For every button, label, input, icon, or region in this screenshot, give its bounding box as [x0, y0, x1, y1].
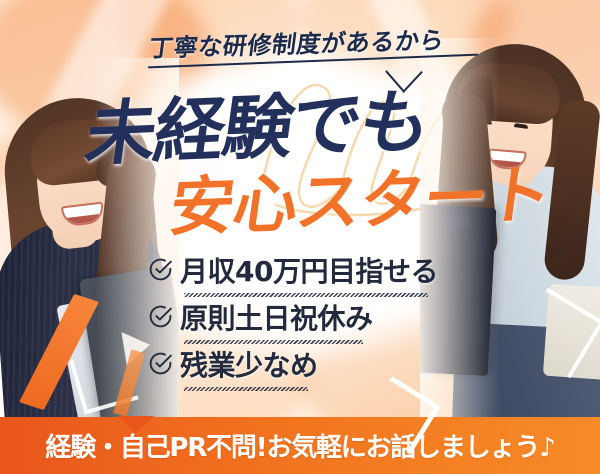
job-ad-banner: 丁寧な研修制度があるから 未経験でも 安心スタート 月収40万円目指せる — [0, 0, 600, 474]
list-item: 月収40万円目指せる — [148, 246, 478, 293]
list-item-label: 残業少なめ — [180, 344, 318, 384]
list-item: 原則土日祝休み — [148, 293, 478, 340]
circle-check-icon — [148, 304, 173, 329]
benefit-list: 月収40万円目指せる 原則土日祝休み 残業少なめ — [148, 246, 478, 387]
tote-bag — [543, 284, 600, 381]
cta-banner[interactable]: 経験・自己PR不問!お気軽にお話しましょう♪ — [0, 417, 600, 474]
list-item-label: 原則土日祝休み — [180, 297, 373, 337]
cta-notch-arrow-icon — [118, 416, 154, 433]
cheek — [420, 175, 423, 185]
list-item-label: 月収40万円目指せる — [180, 250, 438, 290]
circle-check-icon — [148, 257, 173, 282]
circle-check-icon — [148, 351, 173, 376]
list-item: 残業少なめ — [148, 340, 478, 387]
